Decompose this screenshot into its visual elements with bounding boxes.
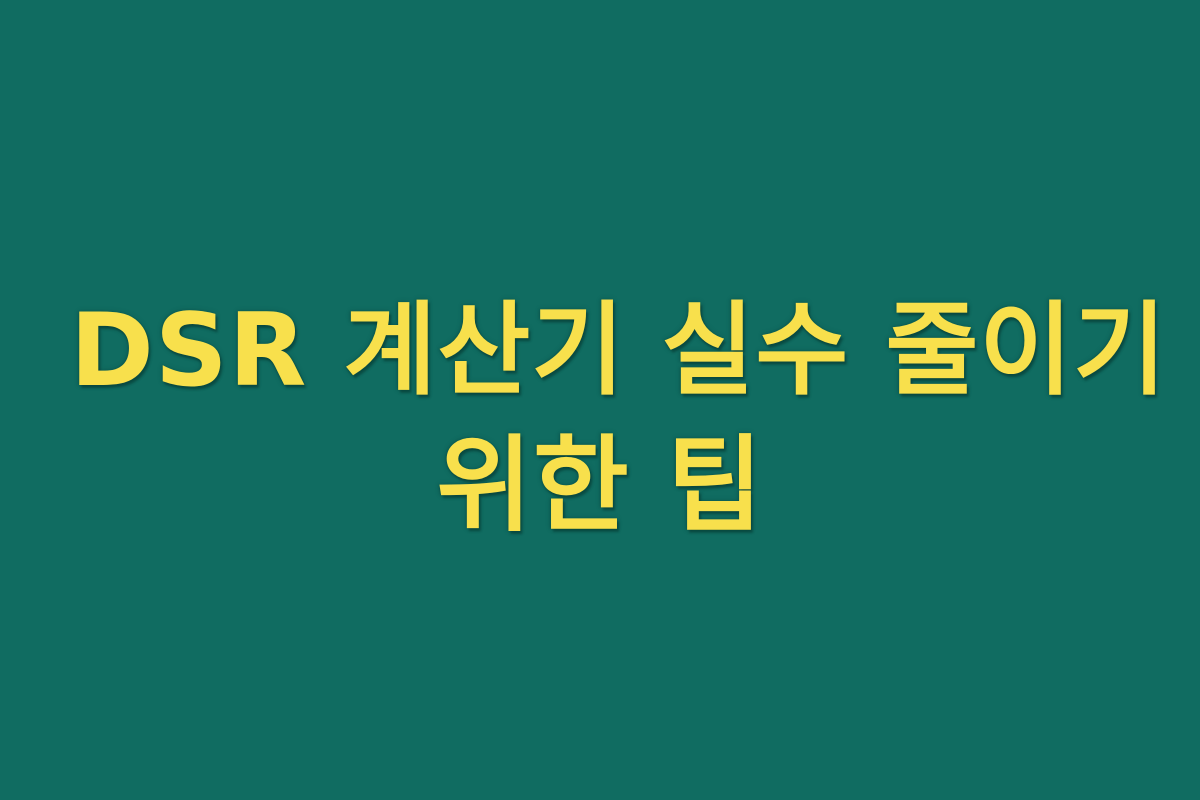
thumbnail-canvas: DSR 계산기 실수 줄이기 위한 팁 bbox=[0, 0, 1200, 800]
headline-block: DSR 계산기 실수 줄이기 위한 팁 bbox=[70, 283, 1130, 553]
headline-line-2: 위한 팁 bbox=[70, 418, 1130, 553]
headline-line-1: DSR 계산기 실수 줄이기 bbox=[70, 283, 1130, 418]
